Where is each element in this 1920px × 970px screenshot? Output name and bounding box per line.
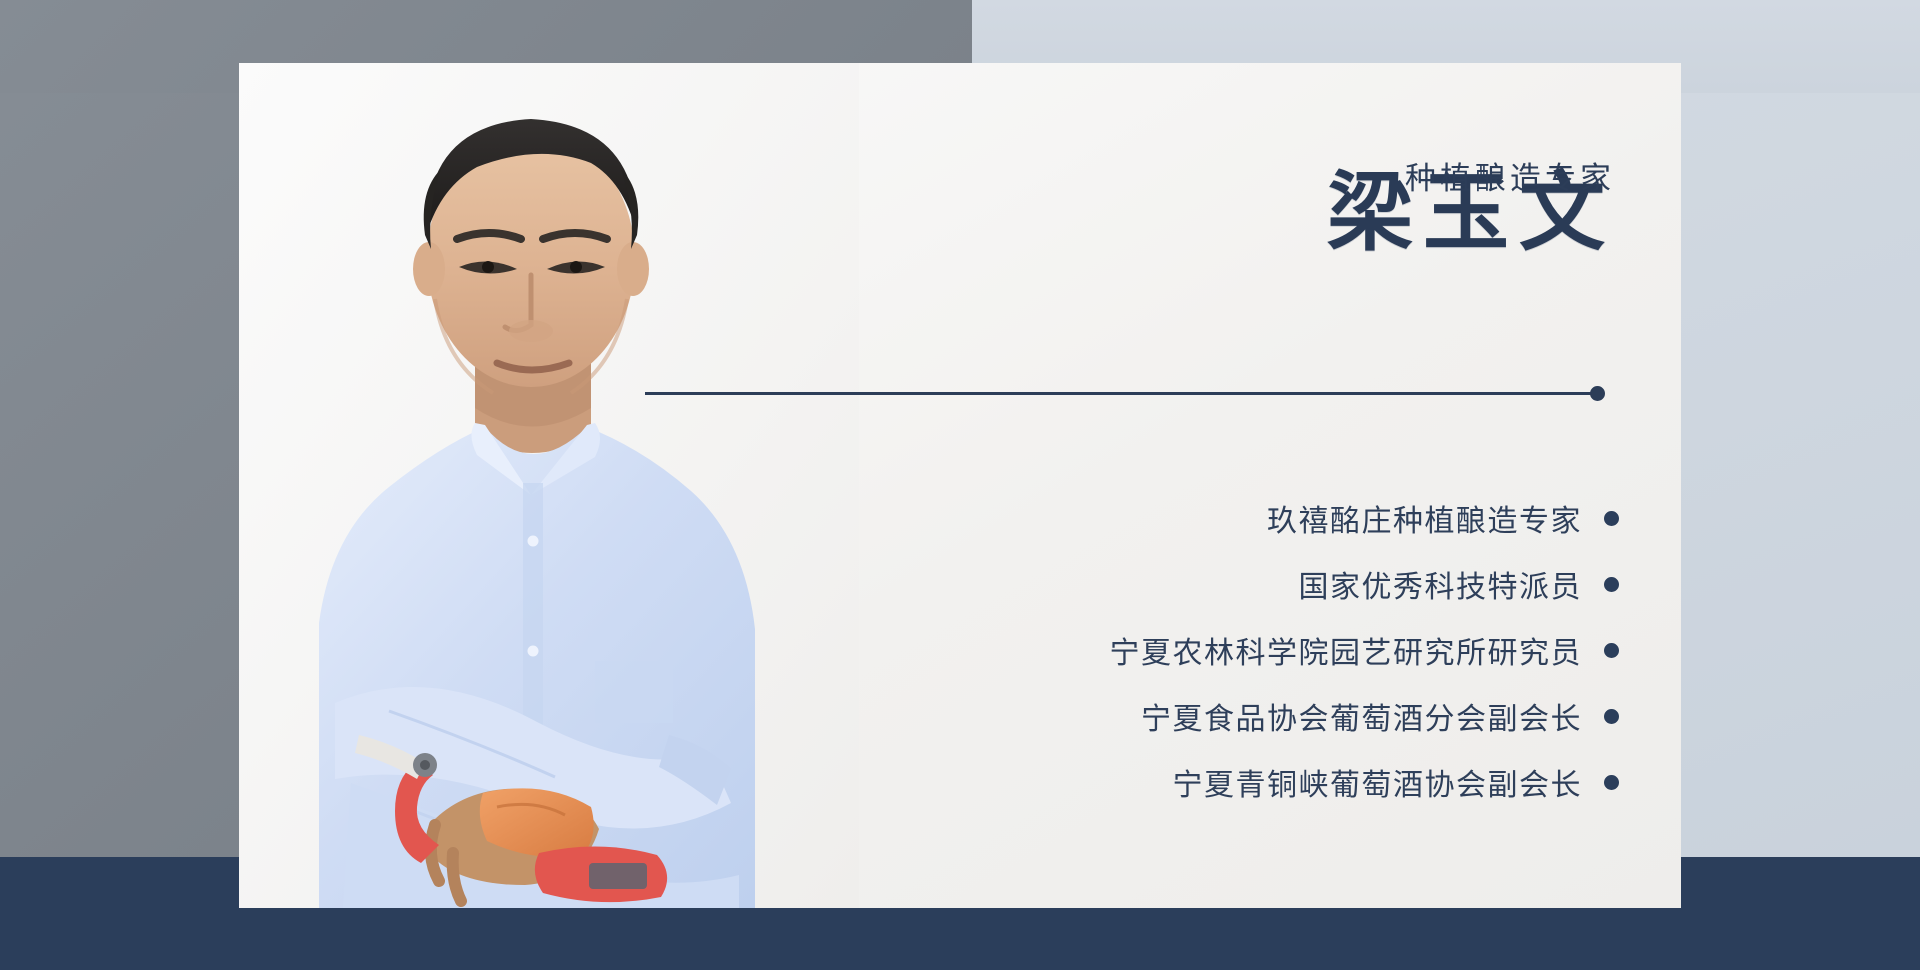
bullet-dot-icon bbox=[1604, 511, 1619, 526]
poster-canvas: 种植酿造专家 梁玉文 玖禧酩庄种植酿造专家 国家优秀科技特派员 宁夏农林科学院园… bbox=[0, 0, 1920, 970]
bullet-dot-icon bbox=[1604, 643, 1619, 658]
credential-label: 玖禧酩庄种植酿造专家 bbox=[1267, 496, 1582, 540]
credential-label: 宁夏农林科学院园艺研究所研究员 bbox=[1110, 628, 1583, 672]
profile-subtitle: 种植酿造专家 bbox=[879, 153, 1615, 198]
bullet-dot-icon bbox=[1604, 577, 1619, 592]
profile-card: 种植酿造专家 梁玉文 玖禧酩庄种植酿造专家 国家优秀科技特派员 宁夏农林科学院园… bbox=[239, 63, 1681, 908]
divider-end-dot bbox=[1590, 386, 1605, 401]
list-item: 宁夏农林科学院园艺研究所研究员 bbox=[759, 623, 1619, 677]
credential-label: 宁夏食品协会葡萄酒分会副会长 bbox=[1141, 694, 1582, 738]
profile-text-column: 种植酿造专家 梁玉文 bbox=[879, 153, 1615, 261]
credential-list: 玖禧酩庄种植酿造专家 国家优秀科技特派员 宁夏农林科学院园艺研究所研究员 宁夏食… bbox=[759, 491, 1619, 821]
list-item: 宁夏食品协会葡萄酒分会副会长 bbox=[759, 689, 1619, 743]
bullet-dot-icon bbox=[1604, 775, 1619, 790]
credential-label: 国家优秀科技特派员 bbox=[1299, 562, 1583, 606]
credential-label: 宁夏青铜峡葡萄酒协会副会长 bbox=[1173, 760, 1583, 804]
list-item: 国家优秀科技特派员 bbox=[759, 557, 1619, 611]
list-item: 玖禧酩庄种植酿造专家 bbox=[759, 491, 1619, 545]
divider bbox=[645, 385, 1605, 401]
list-item: 宁夏青铜峡葡萄酒协会副会长 bbox=[759, 755, 1619, 809]
bullet-dot-icon bbox=[1604, 709, 1619, 724]
divider-line bbox=[645, 392, 1591, 395]
